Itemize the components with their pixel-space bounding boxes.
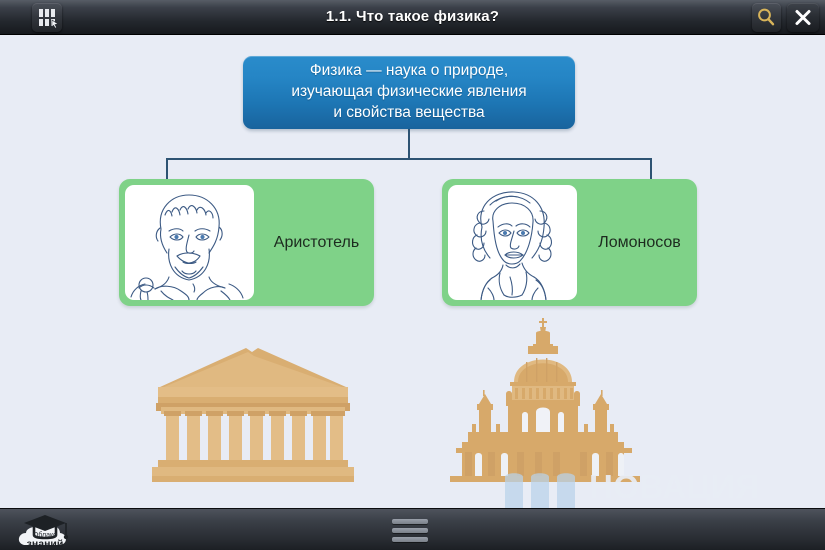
person-card-lomonosov[interactable]: Ломоносов bbox=[442, 179, 697, 306]
search-button[interactable] bbox=[752, 3, 781, 32]
hamburger-bar-1 bbox=[392, 519, 428, 524]
hamburger-bar-2 bbox=[392, 528, 428, 533]
definition-line-1: Физика — наука о природе, bbox=[310, 60, 508, 81]
slides-grid-icon bbox=[32, 3, 62, 32]
connector-horizontal bbox=[166, 158, 652, 160]
connector-vertical-main bbox=[408, 129, 410, 159]
bottom-toolbar: Облако знаний bbox=[0, 508, 825, 550]
connector-vertical-left bbox=[166, 158, 168, 181]
brand-line-2: знаний bbox=[27, 538, 64, 550]
title-bar: 1.1. Что такое физика? bbox=[0, 0, 825, 35]
definition-box: Физика — наука о природе, изучающая физи… bbox=[243, 56, 575, 129]
cloud-knowledge-logo-button[interactable]: Облако знаний bbox=[12, 511, 76, 550]
saint-isaac-cathedral-illustration bbox=[432, 316, 654, 484]
presentation-viewer: 1.1. Что такое физика? Физика — наука о … bbox=[0, 0, 825, 550]
lomonosov-portrait-icon bbox=[448, 185, 577, 300]
person-name-lomonosov: Ломоносов bbox=[582, 179, 697, 306]
cloud-knowledge-logo: Облако знаний bbox=[12, 511, 76, 550]
aristotle-portrait-icon bbox=[125, 185, 254, 300]
hamburger-bar-3 bbox=[392, 537, 428, 542]
definition-line-3: и свойства вещества bbox=[333, 102, 484, 123]
person-name-aristotle: Аристотель bbox=[259, 179, 374, 306]
definition-line-2: изучающая физические явления bbox=[291, 81, 526, 102]
slide-canvas: Физика — наука о природе, изучающая физи… bbox=[0, 35, 825, 508]
close-button[interactable] bbox=[787, 3, 819, 32]
close-icon bbox=[787, 3, 819, 32]
slides-grid-button[interactable] bbox=[32, 3, 62, 32]
aristotle-portrait bbox=[125, 185, 254, 300]
connector-vertical-right bbox=[650, 158, 652, 181]
lomonosov-portrait bbox=[448, 185, 577, 300]
page-title: 1.1. Что такое физика? bbox=[0, 0, 825, 34]
person-card-aristotle[interactable]: Аристотель bbox=[119, 179, 374, 306]
hamburger-menu-icon[interactable] bbox=[392, 519, 428, 542]
greek-temple-illustration bbox=[150, 339, 355, 483]
search-icon bbox=[752, 3, 781, 32]
